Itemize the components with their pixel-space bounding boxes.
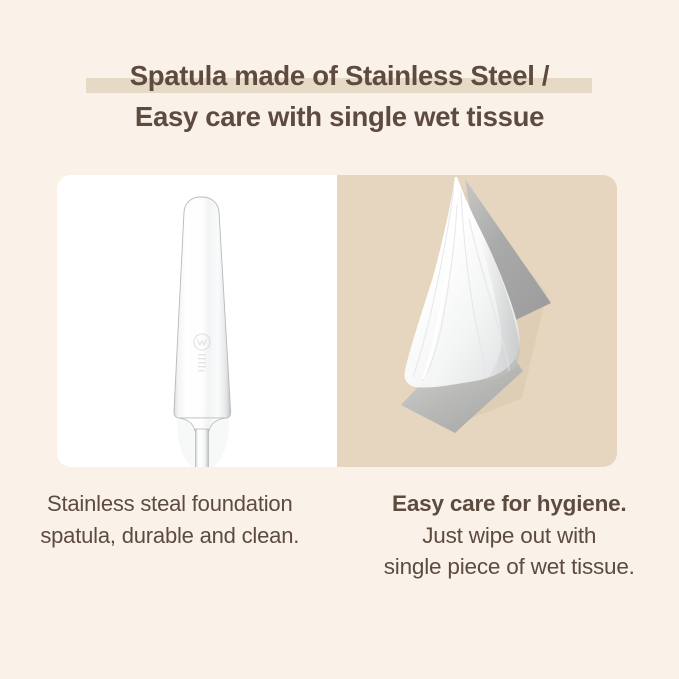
caption-right: Easy care for hygiene. Just wipe out wit… (340, 488, 679, 583)
page-title-line-1: Spatula made of Stainless Steel / (0, 55, 679, 96)
page-title-line-1-text: Spatula made of Stainless Steel / (130, 60, 550, 91)
caption-group: Stainless steal foundation spatula, dura… (0, 488, 679, 583)
caption-left: Stainless steal foundation spatula, dura… (0, 488, 340, 583)
caption-right-line-2: single piece of wet tissue. (340, 551, 679, 583)
page-title-line-2-text: Easy care with single wet tissue (135, 101, 544, 132)
caption-left-line-2: spatula, durable and clean. (0, 520, 340, 552)
spatula-handle (196, 429, 209, 467)
caption-right-line-1: Just wipe out with (340, 520, 679, 552)
panel-spatula (57, 175, 337, 467)
page-title: Spatula made of Stainless Steel / Easy c… (0, 55, 679, 137)
page-title-line-2: Easy care with single wet tissue (0, 96, 679, 137)
image-panel-group (57, 175, 617, 467)
caption-left-line-1: Stainless steal foundation (0, 488, 340, 520)
spatula-illustration (57, 175, 337, 467)
product-feature-card: Spatula made of Stainless Steel / Easy c… (0, 0, 679, 679)
panel-wet-tissue (337, 175, 617, 467)
wet-tissue-illustration (337, 175, 617, 467)
caption-right-heading: Easy care for hygiene. (340, 488, 679, 520)
